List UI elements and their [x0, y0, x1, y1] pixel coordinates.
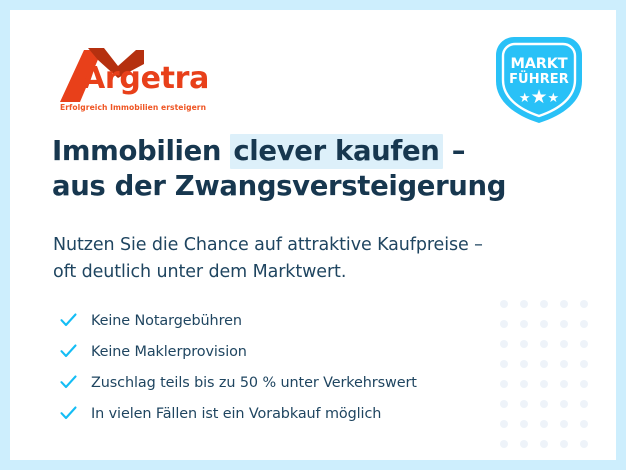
decorative-dot — [540, 380, 548, 388]
decorative-dot — [540, 400, 548, 408]
subtitle-line-1: Nutzen Sie die Chance auf attraktive Kau… — [53, 232, 573, 259]
decorative-dot — [560, 360, 568, 368]
headline-line-1-post: – — [443, 135, 466, 167]
decorative-dot — [500, 440, 508, 448]
headline-highlight: clever kaufen — [230, 134, 442, 169]
decorative-dot — [580, 420, 588, 428]
list-item-label: Keine Maklerprovision — [91, 344, 247, 360]
list-item: Zuschlag teils bis zu 50 % unter Verkehr… — [53, 367, 533, 398]
page-title: Immobilien clever kaufen – aus der Zwang… — [52, 134, 572, 204]
list-item-label: Keine Notargebühren — [91, 313, 242, 329]
decorative-dot — [580, 400, 588, 408]
logo-wordmark: Argetra — [82, 64, 209, 94]
list-item: In vielen Fällen ist ein Vorabkauf mögli… — [53, 398, 533, 429]
decorative-dot — [580, 440, 588, 448]
headline-line-1: Immobilien clever kaufen – — [52, 134, 572, 169]
markt-fuehrer-badge: MARKT FÜHRER ★★★ — [492, 33, 586, 125]
decorative-dot — [540, 300, 548, 308]
argetra-logo[interactable]: Argetra Erfolgreich Immobilien ersteiger… — [58, 40, 238, 120]
check-icon — [60, 313, 77, 327]
decorative-dot — [520, 440, 528, 448]
decorative-dot — [580, 320, 588, 328]
list-item-label: In vielen Fällen ist ein Vorabkauf mögli… — [91, 406, 381, 422]
decorative-dot — [540, 320, 548, 328]
decorative-dot — [580, 360, 588, 368]
promo-banner: Argetra Erfolgreich Immobilien ersteiger… — [0, 0, 626, 470]
decorative-dot — [540, 360, 548, 368]
list-item: Keine Notargebühren — [53, 305, 533, 336]
logo-tagline: Erfolgreich Immobilien ersteigern — [60, 103, 206, 112]
decorative-dot — [540, 440, 548, 448]
decorative-dot — [540, 340, 548, 348]
decorative-dot — [560, 380, 568, 388]
banner-canvas: Argetra Erfolgreich Immobilien ersteiger… — [10, 10, 616, 460]
list-item-label: Zuschlag teils bis zu 50 % unter Verkehr… — [91, 375, 417, 391]
check-icon — [60, 375, 77, 389]
headline-line-2: aus der Zwangsversteigerung — [52, 169, 572, 204]
check-icon — [60, 344, 77, 358]
list-item: Keine Maklerprovision — [53, 336, 533, 367]
benefit-list: Keine Notargebühren Keine Maklerprovisio… — [53, 305, 533, 429]
headline-line-1-pre: Immobilien — [52, 135, 230, 167]
decorative-dot — [580, 380, 588, 388]
check-icon — [60, 406, 77, 420]
decorative-dot — [540, 420, 548, 428]
decorative-dot — [560, 320, 568, 328]
decorative-dot — [560, 440, 568, 448]
decorative-dot — [560, 400, 568, 408]
subtitle-line-2: oft deutlich unter dem Marktwert. — [53, 259, 573, 286]
shield-badge-icon — [492, 33, 586, 125]
decorative-dot — [580, 300, 588, 308]
decorative-dot — [580, 340, 588, 348]
decorative-dot — [560, 340, 568, 348]
subtitle: Nutzen Sie die Chance auf attraktive Kau… — [53, 232, 573, 286]
decorative-dot — [560, 420, 568, 428]
decorative-dot — [560, 300, 568, 308]
